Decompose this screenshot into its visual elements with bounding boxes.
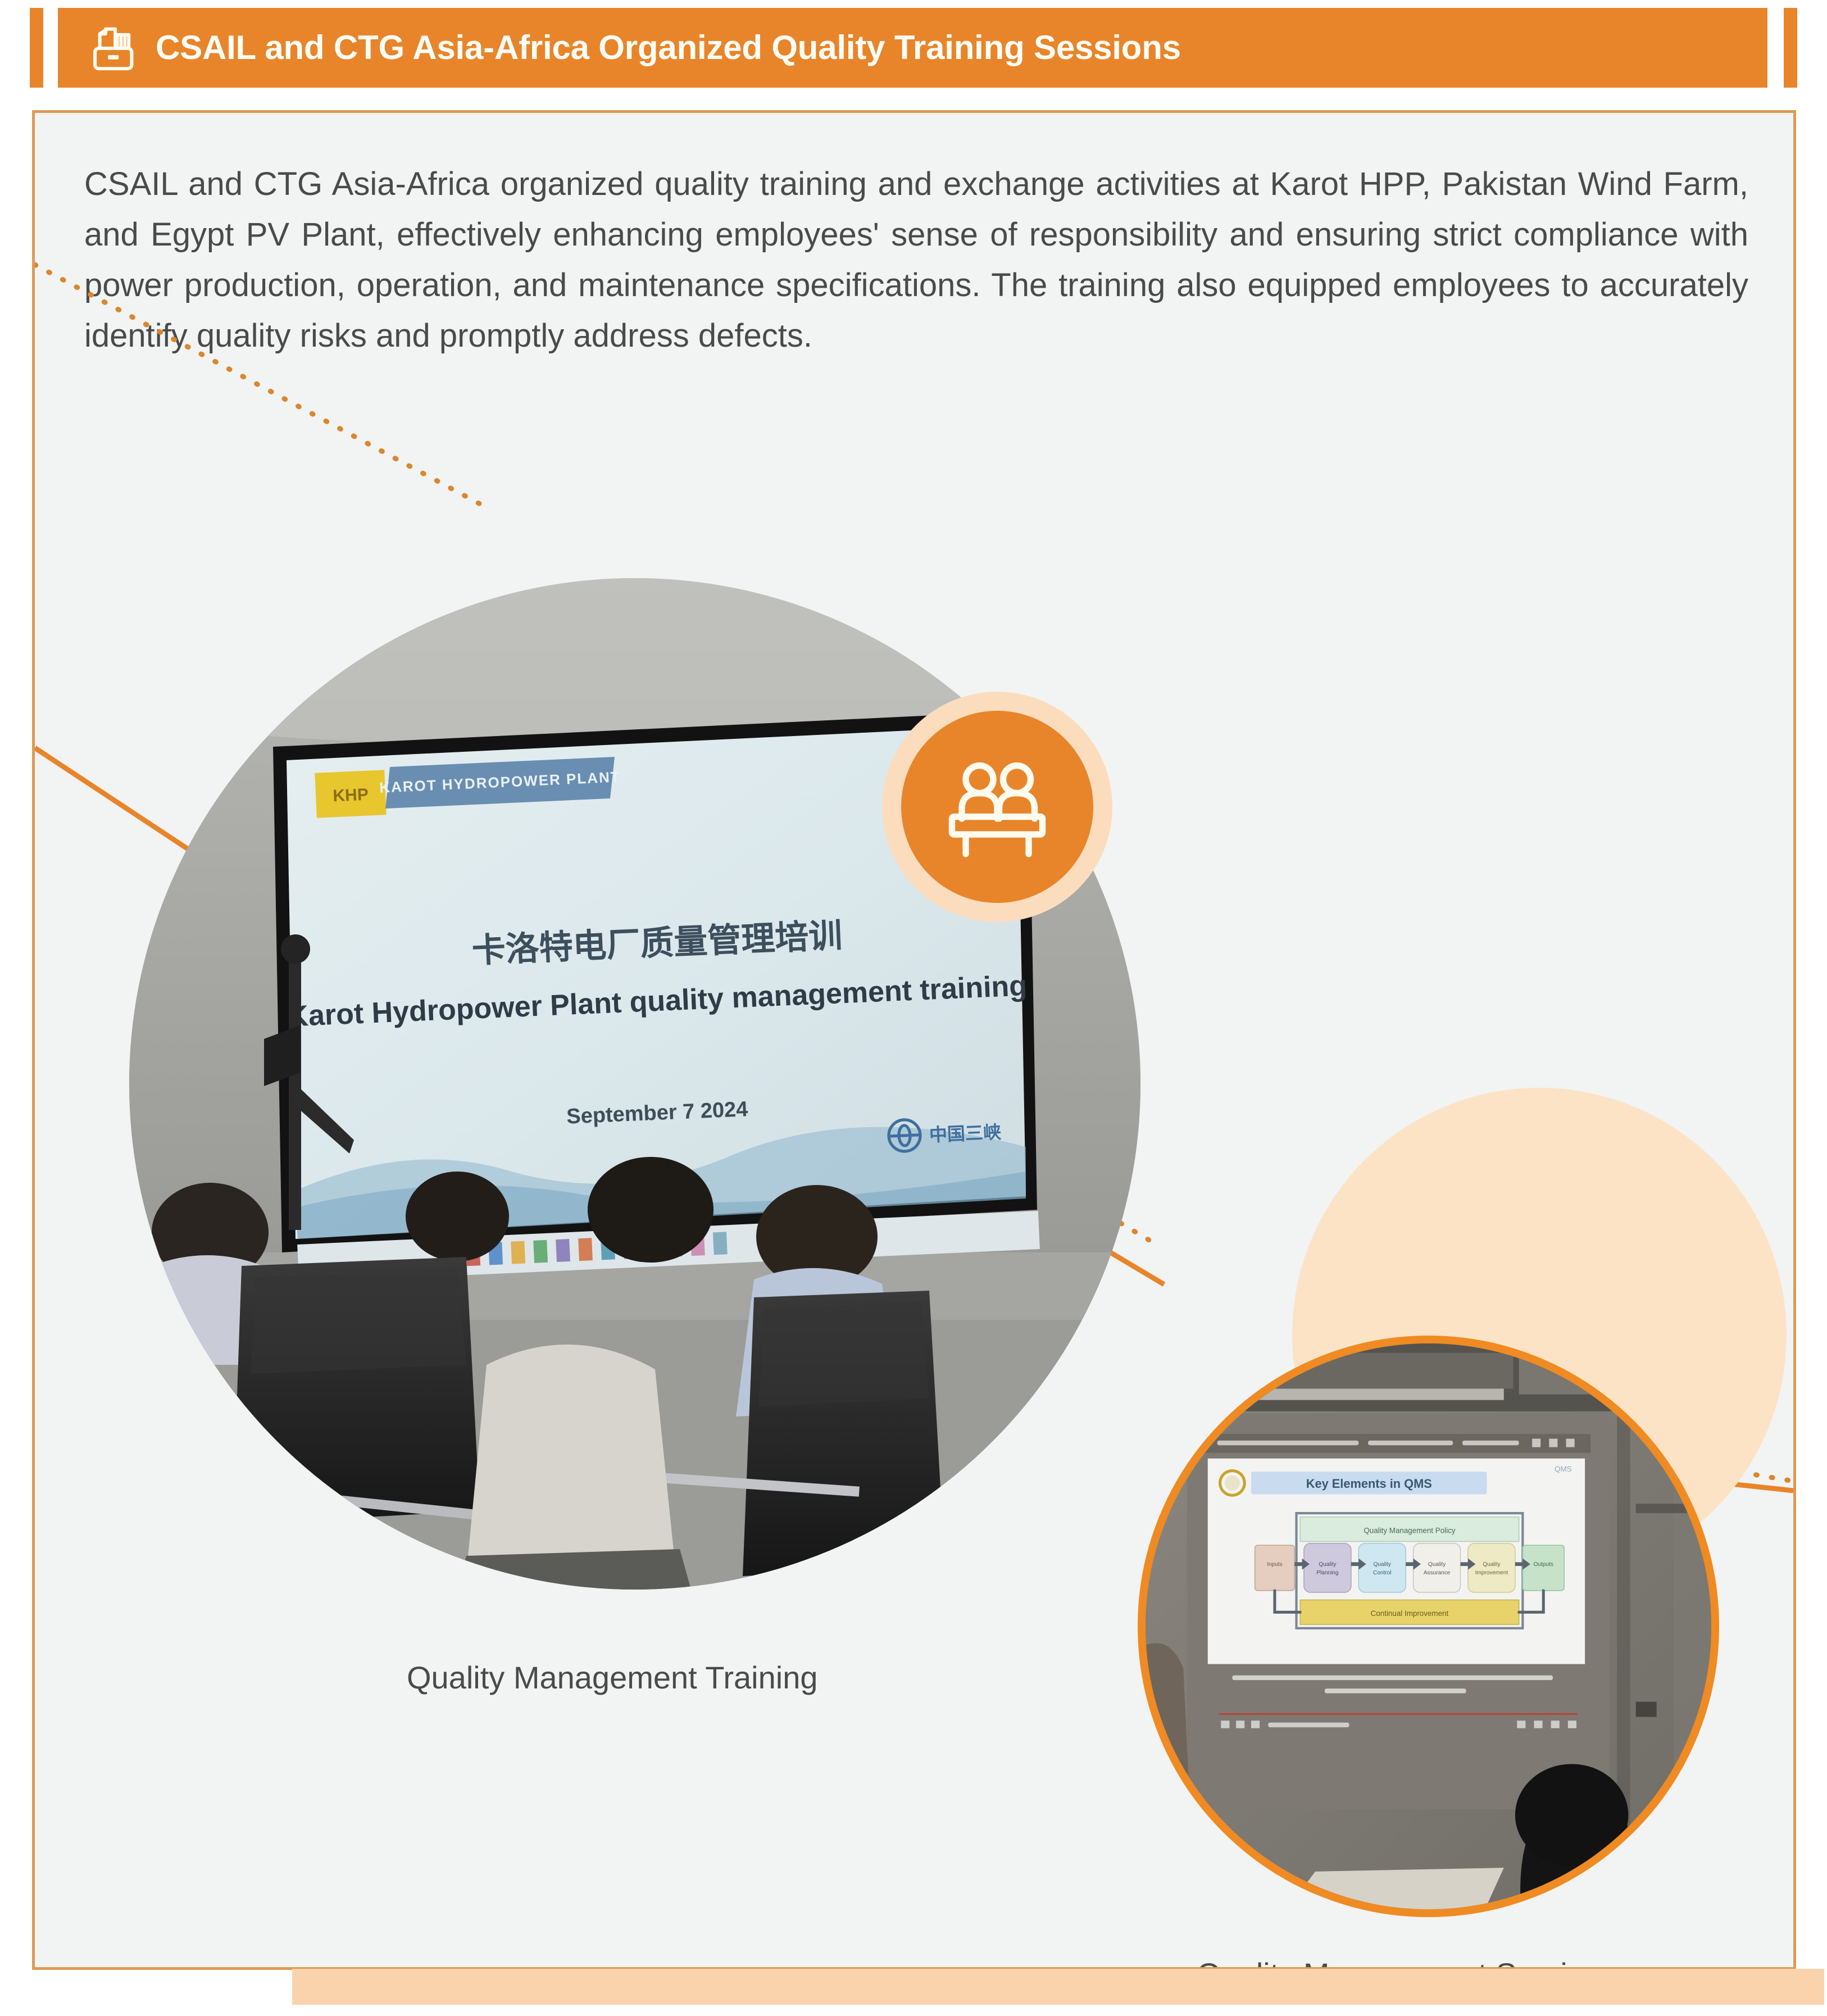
svg-text:Outputs: Outputs: [1534, 1561, 1553, 1568]
svg-text:中国三峡: 中国三峡: [929, 1121, 1001, 1146]
header-band: CSAIL and CTG Asia-Africa Organized Qual…: [58, 8, 1767, 88]
svg-text:Key Elements in QMS: Key Elements in QMS: [1306, 1477, 1432, 1491]
svg-text:Control: Control: [1373, 1570, 1391, 1576]
svg-text:Planning: Planning: [1316, 1570, 1338, 1576]
svg-text:Quality: Quality: [1483, 1561, 1501, 1568]
svg-text:Quality: Quality: [1428, 1561, 1446, 1568]
poster-page: CSAIL and CTG Asia-Africa Organized Qual…: [0, 0, 1827, 2016]
content-card: CSAIL and CTG Asia-Africa organized qual…: [32, 110, 1796, 1970]
page-title: CSAIL and CTG Asia-Africa Organized Qual…: [156, 31, 1181, 65]
svg-text:KHP: KHP: [333, 785, 369, 806]
quality-management-seminar-photo: Key Elements in QMS QMS Quality Manageme…: [1138, 1336, 1719, 1917]
training-badge: [882, 692, 1112, 922]
svg-text:QMS: QMS: [1555, 1465, 1572, 1473]
header-left-accent-bar: [30, 8, 43, 88]
bottom-accent-bar: [292, 1969, 1824, 2005]
svg-text:Quality: Quality: [1374, 1561, 1392, 1568]
file-drawer-icon: [88, 24, 137, 72]
svg-text:Assurance: Assurance: [1424, 1570, 1451, 1576]
header-right-accent-bar: [1784, 8, 1797, 88]
svg-text:Quality: Quality: [1319, 1561, 1337, 1568]
page-header: CSAIL and CTG Asia-Africa Organized Qual…: [0, 0, 1827, 96]
badge-inner-circle: [901, 711, 1093, 903]
caption-quality-management-training: Quality Management Training: [407, 1659, 818, 1696]
caption-quality-management-seminar: Quality Management Seminar: [1197, 1956, 1613, 1970]
two-people-at-desk-icon: [938, 748, 1056, 866]
svg-text:Inputs: Inputs: [1267, 1561, 1282, 1568]
svg-text:Quality Management Policy: Quality Management Policy: [1364, 1526, 1455, 1534]
svg-text:Continual Improvement: Continual Improvement: [1371, 1609, 1449, 1618]
svg-text:Improvement: Improvement: [1475, 1570, 1508, 1576]
